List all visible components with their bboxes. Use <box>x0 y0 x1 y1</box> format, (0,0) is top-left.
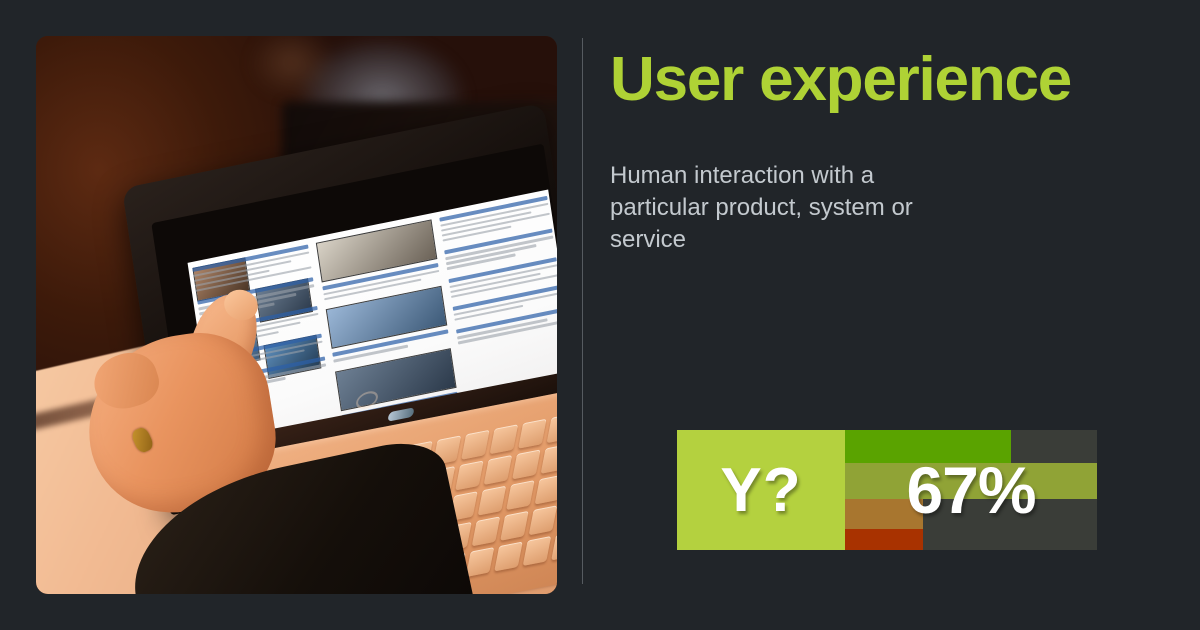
photo-canvas <box>36 36 557 594</box>
page-description: Human interaction with a particular prod… <box>610 160 940 256</box>
logo-value-text: 67% <box>845 430 1097 550</box>
social-share-card: User experience Human interaction with a… <box>0 0 1200 630</box>
page-title: User experience <box>610 47 1170 112</box>
hero-photo <box>36 36 557 594</box>
vertical-divider <box>582 38 583 584</box>
hand <box>36 36 557 594</box>
brand-logo[interactable]: Y? 67% <box>677 430 1097 550</box>
logo-mark-text: Y? <box>677 430 845 550</box>
